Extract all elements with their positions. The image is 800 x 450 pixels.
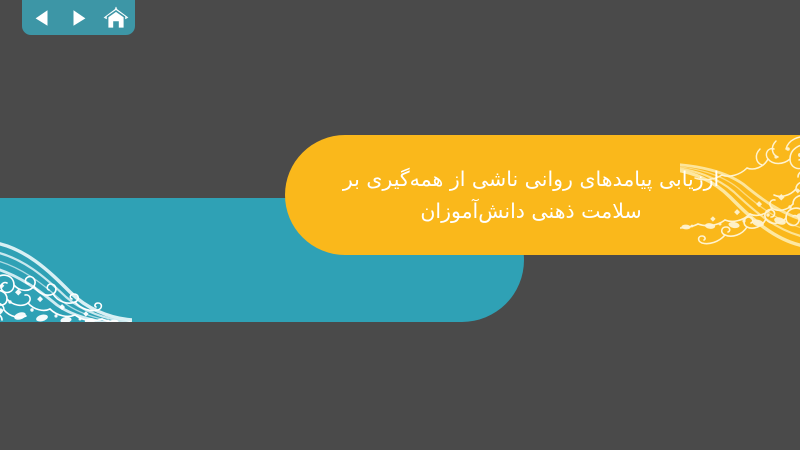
triangle-right-icon bbox=[68, 7, 90, 29]
home-icon bbox=[103, 6, 129, 30]
triangle-left-icon bbox=[31, 7, 53, 29]
arabesque-corner-ornament-teal bbox=[0, 234, 132, 322]
slide-title: ارزیابی پیامدهای روانی ناشی از همه‌گیری … bbox=[285, 135, 777, 255]
presentation-slide: ارزیابی پیامدهای روانی ناشی از همه‌گیری … bbox=[0, 0, 800, 450]
next-slide-button[interactable] bbox=[66, 5, 92, 31]
previous-slide-button[interactable] bbox=[29, 5, 55, 31]
slide-navigation-bar bbox=[22, 0, 135, 35]
home-button[interactable] bbox=[103, 5, 129, 31]
title-line-2: سلامت ذهنی دانش‌آموزان bbox=[420, 195, 641, 227]
title-band: ارزیابی پیامدهای روانی ناشی از همه‌گیری … bbox=[285, 135, 800, 255]
title-line-1: ارزیابی پیامدهای روانی ناشی از همه‌گیری … bbox=[343, 163, 719, 195]
